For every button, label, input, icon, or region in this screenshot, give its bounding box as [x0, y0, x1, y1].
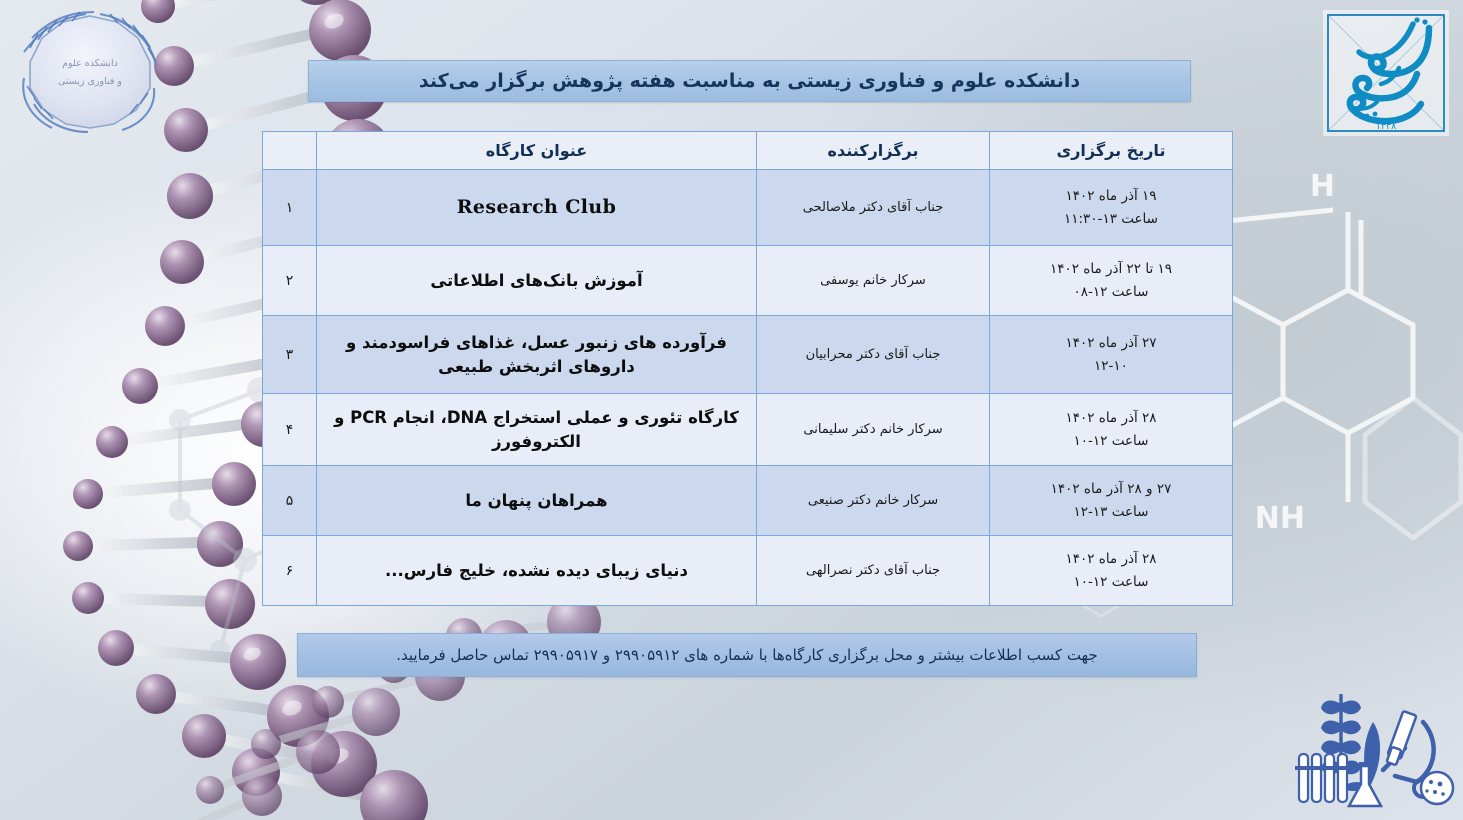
date-line-1: ۲۷ آذر ماه ۱۴۰۲	[1065, 335, 1156, 351]
cell-row-number: ۳	[263, 316, 317, 394]
date-line-1: ۲۸ آذر ماه ۱۴۰۲	[1065, 551, 1156, 567]
date-line-1: ۲۷ و ۲۸ آذر ماه ۱۴۰۲	[1051, 481, 1172, 497]
column-header-organizer: برگزارکننده	[757, 132, 990, 170]
table-header: تاریخ برگزاری برگزارکننده عنوان کارگاه	[263, 132, 1233, 170]
cell-row-number: ۵	[263, 466, 317, 536]
faculty-seal-logo: دانشکده علوم و فناوری زیستی	[14, 8, 166, 136]
cell-organizer: سرکار خانم دکتر صنیعی	[757, 466, 990, 536]
cell-workshop-title: دنیای زیبای دیده نشده، خلیج فارس...	[317, 536, 757, 606]
cell-workshop-title: همراهان پنهان ما	[317, 466, 757, 536]
university-logo: ۱۳۳۸	[1317, 4, 1455, 142]
cell-row-number: ۱	[263, 170, 317, 246]
table-row: ۲۸ آذر ماه ۱۴۰۲ ساعت ۱۲-۱۰ سرکار خانم دک…	[263, 394, 1233, 466]
cell-row-number: ۲	[263, 246, 317, 316]
chem-label-nh: NH	[1255, 501, 1305, 536]
biotech-emblem-logo	[1285, 688, 1455, 814]
poster-title: دانشکده علوم و فناوری زیستی به مناسبت هف…	[419, 70, 1080, 92]
cell-row-number: ۴	[263, 394, 317, 466]
title-banner: دانشکده علوم و فناوری زیستی به مناسبت هف…	[308, 60, 1191, 102]
poster-canvas: CH 3 H NH	[0, 0, 1463, 820]
university-founding-year: ۱۳۳۸	[1376, 121, 1396, 132]
faculty-seal-line2: و فناوری زیستی	[58, 76, 122, 87]
chem-label-h: H	[1310, 169, 1335, 204]
column-header-date: تاریخ برگزاری	[990, 132, 1233, 170]
cell-date: ۱۹ آذر ماه ۱۴۰۲ ساعت ۱۳-۱۱:۳۰	[990, 170, 1233, 246]
date-line-2: ۱۲-۱۰	[998, 355, 1224, 378]
cell-date: ۲۸ آذر ماه ۱۴۰۲ ساعت ۱۲-۱۰	[990, 536, 1233, 606]
cell-organizer: جناب آقای دکتر نصرالهی	[757, 536, 990, 606]
cell-row-number: ۶	[263, 536, 317, 606]
cell-organizer: جناب آقای دکتر ملاصالحی	[757, 170, 990, 246]
date-line-2: ساعت ۱۳-۱۱:۳۰	[998, 208, 1224, 231]
table-row: ۱۹ آذر ماه ۱۴۰۲ ساعت ۱۳-۱۱:۳۰ جناب آقای …	[263, 170, 1233, 246]
cell-date: ۲۷ آذر ماه ۱۴۰۲ ۱۲-۱۰	[990, 316, 1233, 394]
table-row: ۱۹ تا ۲۲ آذر ماه ۱۴۰۲ ساعت ۱۲-۰۸ سرکار خ…	[263, 246, 1233, 316]
faculty-seal-line1: دانشکده علوم	[62, 58, 118, 69]
cell-date: ۱۹ تا ۲۲ آذر ماه ۱۴۰۲ ساعت ۱۲-۰۸	[990, 246, 1233, 316]
date-line-2: ساعت ۱۲-۱۰	[998, 430, 1224, 453]
date-line-2: ساعت ۱۳-۱۲	[998, 501, 1224, 524]
cell-workshop-title: فرآورده های زنبور عسل، غذاهای فراسودمند …	[317, 316, 757, 394]
workshop-schedule-table: تاریخ برگزاری برگزارکننده عنوان کارگاه ۱…	[262, 131, 1233, 606]
column-header-number	[263, 132, 317, 170]
table-body: ۱۹ آذر ماه ۱۴۰۲ ساعت ۱۳-۱۱:۳۰ جناب آقای …	[263, 170, 1233, 606]
date-line-1: ۱۹ آذر ماه ۱۴۰۲	[1065, 188, 1156, 204]
table-row: ۲۷ و ۲۸ آذر ماه ۱۴۰۲ ساعت ۱۳-۱۲ سرکار خا…	[263, 466, 1233, 536]
cell-workshop-title: آموزش بانک‌های اطلاعاتی	[317, 246, 757, 316]
table-row: ۲۸ آذر ماه ۱۴۰۲ ساعت ۱۲-۱۰ جناب آقای دکت…	[263, 536, 1233, 606]
shahid-beheshti-university-logo-icon: ۱۳۳۸	[1317, 4, 1455, 142]
date-line-2: ساعت ۱۲-۰۸	[998, 281, 1224, 304]
cell-organizer: جناب آقای دکتر محرابیان	[757, 316, 990, 394]
contact-info-banner: جهت کسب اطلاعات بیشتر و محل برگزاری کارگ…	[297, 633, 1197, 677]
table-row: ۲۷ آذر ماه ۱۴۰۲ ۱۲-۱۰ جناب آقای دکتر محر…	[263, 316, 1233, 394]
date-line-2: ساعت ۱۲-۱۰	[998, 571, 1224, 594]
table-header-row: تاریخ برگزاری برگزارکننده عنوان کارگاه	[263, 132, 1233, 170]
contact-info-text: جهت کسب اطلاعات بیشتر و محل برگزاری کارگ…	[396, 646, 1098, 664]
column-header-title: عنوان کارگاه	[317, 132, 757, 170]
cell-date: ۲۷ و ۲۸ آذر ماه ۱۴۰۲ ساعت ۱۳-۱۲	[990, 466, 1233, 536]
cell-organizer: سرکار خانم یوسفی	[757, 246, 990, 316]
date-line-1: ۱۹ تا ۲۲ آذر ماه ۱۴۰۲	[1050, 261, 1172, 277]
date-line-1: ۲۸ آذر ماه ۱۴۰۲	[1065, 410, 1156, 426]
cell-organizer: سرکار خانم دکتر سلیمانی	[757, 394, 990, 466]
biotech-emblem-icon	[1285, 688, 1455, 814]
cell-workshop-title: Research Club	[317, 170, 757, 246]
cell-date: ۲۸ آذر ماه ۱۴۰۲ ساعت ۱۲-۱۰	[990, 394, 1233, 466]
cell-workshop-title: کارگاه تئوری و عملی استخراج DNA، انجام P…	[317, 394, 757, 466]
